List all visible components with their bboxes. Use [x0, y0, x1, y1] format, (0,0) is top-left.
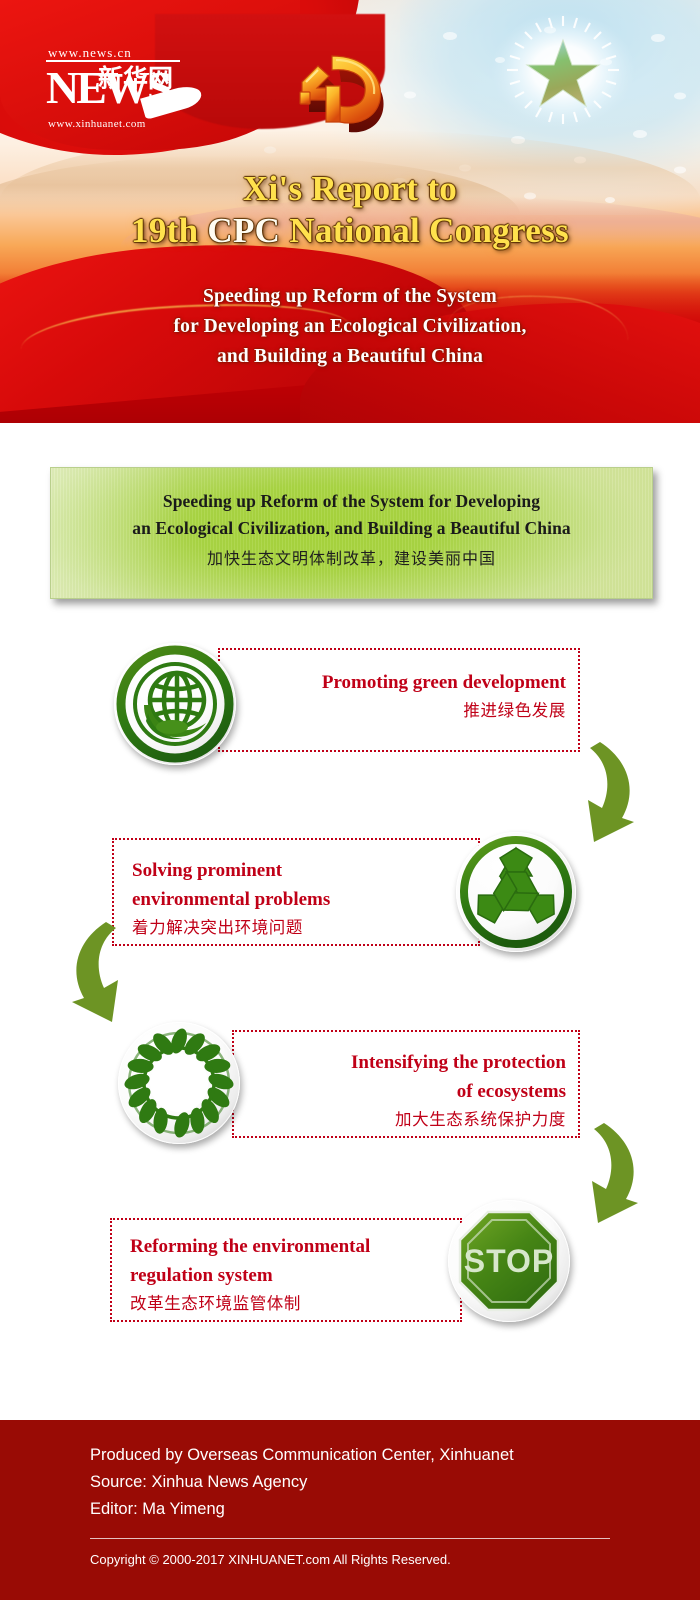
header-banner: www.news.cn NEWS 新华网 www.xinhuanet.com	[0, 0, 700, 423]
item-4-english: Reforming the environmental regulation s…	[130, 1232, 450, 1290]
laurel-wreath-icon	[118, 1022, 240, 1144]
glowing-star-icon	[468, 10, 658, 140]
curved-arrow-down-right-icon-2	[58, 918, 158, 1028]
title-national-congress: National Congress	[280, 211, 569, 250]
page-title: Xi's Report to 19th CPC National Congres…	[0, 168, 700, 252]
logo-bottom-url: www.xinhuanet.com	[46, 118, 196, 131]
item-4-en-line-2: regulation system	[130, 1261, 450, 1290]
item-1-text: Promoting green development 推进绿色发展	[240, 668, 566, 725]
item-2-en-line-2: environmental problems	[132, 885, 452, 914]
item-1-en-line-1: Promoting green development	[240, 668, 566, 697]
item-3-text: Intensifying the protection of ecosystem…	[254, 1048, 566, 1134]
footer-editor: Editor: Ma Yimeng	[90, 1496, 620, 1523]
subtitle-line-1: Speeding up Reform of the System	[0, 282, 700, 312]
curved-arrow-down-left-icon-1	[548, 738, 648, 848]
banner-english-text: Speeding up Reform of the System for Dev…	[51, 468, 652, 542]
footer: Produced by Overseas Communication Cente…	[0, 1420, 700, 1600]
item-2-en-line-1: Solving prominent	[132, 856, 452, 885]
footer-source: Source: Xinhua News Agency	[90, 1469, 620, 1496]
curved-arrow-down-left-icon-3	[552, 1118, 652, 1230]
title-line-1: Xi's Report to	[243, 169, 457, 208]
title-line-2: 19th CPC National Congress	[0, 210, 700, 252]
svg-text:STOP: STOP	[464, 1243, 555, 1279]
footer-credits: Produced by Overseas Communication Cente…	[90, 1442, 620, 1523]
item-3-en-line-2: of ecosystems	[254, 1077, 566, 1106]
title-cpc: CPC	[207, 211, 280, 250]
item-4-chinese: 改革生态环境监管体制	[130, 1290, 450, 1318]
infographic-page: www.news.cn NEWS 新华网 www.xinhuanet.com	[0, 0, 700, 1600]
section-banner: Speeding up Reform of the System for Dev…	[50, 467, 653, 599]
footer-divider	[90, 1538, 610, 1539]
title-19th: 19th	[131, 211, 207, 250]
recycling-symbol-icon	[456, 832, 576, 952]
page-subtitle: Speeding up Reform of the System for Dev…	[0, 282, 700, 372]
xinhua-logo[interactable]: www.news.cn NEWS 新华网 www.xinhuanet.com	[46, 46, 196, 138]
item-4-en-line-1: Reforming the environmental	[130, 1232, 450, 1261]
item-3-english: Intensifying the protection of ecosystem…	[254, 1048, 566, 1106]
subtitle-line-3: and Building a Beautiful China	[0, 342, 700, 372]
logo-top-url: www.news.cn	[46, 46, 180, 62]
footer-copyright: Copyright © 2000-2017 XINHUANET.com All …	[90, 1550, 620, 1570]
banner-en-line-2: an Ecological Civilization, and Building…	[51, 515, 652, 542]
item-1-chinese: 推进绿色发展	[240, 697, 566, 725]
item-4-text: Reforming the environmental regulation s…	[130, 1232, 450, 1318]
banner-chinese-text: 加快生态文明体制改革，建设美丽中国	[51, 542, 652, 572]
globe-in-hand-icon	[114, 643, 236, 765]
item-2-chinese: 着力解决突出环境问题	[132, 914, 452, 942]
banner-en-line-1: Speeding up Reform of the System for Dev…	[51, 488, 652, 515]
stop-sign-icon: STOP	[448, 1200, 570, 1322]
item-2-text: Solving prominent environmental problems…	[132, 856, 452, 942]
subtitle-line-2: for Developing an Ecological Civilizatio…	[0, 312, 700, 342]
item-3-en-line-1: Intensifying the protection	[254, 1048, 566, 1077]
footer-produced-by: Produced by Overseas Communication Cente…	[90, 1442, 620, 1469]
logo-chinese-name: 新华网	[98, 66, 173, 92]
item-1-english: Promoting green development	[240, 668, 566, 697]
logo-wordmark: NEWS 新华网	[46, 62, 196, 118]
item-3-chinese: 加大生态系统保护力度	[254, 1106, 566, 1134]
cpc-hammer-sickle-emblem-icon	[288, 42, 412, 142]
item-2-english: Solving prominent environmental problems	[132, 856, 452, 914]
